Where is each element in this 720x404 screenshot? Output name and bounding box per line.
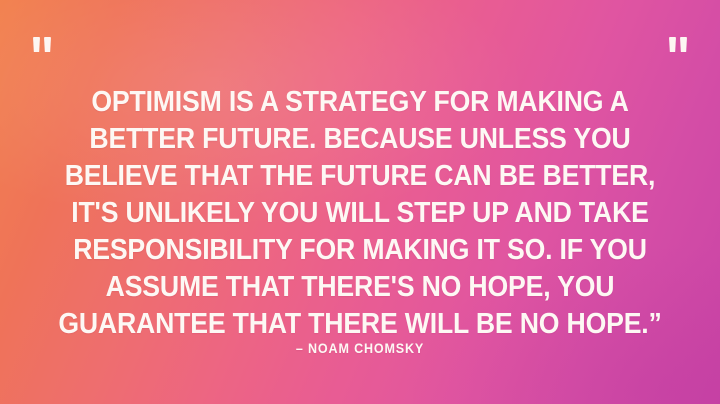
quote-line: RESPONSIBILITY FOR MAKING IT SO. IF YOU [48,232,673,269]
quote-text: OPTIMISM IS A STRATEGY FOR MAKING A BETT… [0,84,720,343]
quote-close-icon [669,37,687,52]
quote-line: BELIEVE THAT THE FUTURE CAN BE BETTER, [48,158,673,195]
quote-close-bar-right [680,37,687,52]
quote-open-bar-left [33,37,40,52]
quote-line: IT'S UNLIKELY YOU WILL STEP UP AND TAKE [48,195,673,232]
quote-open-bar-right [44,37,51,52]
quote-open-icon [33,37,51,52]
quote-line: BETTER FUTURE. BECAUSE UNLESS YOU [48,121,673,158]
quote-attribution: – NOAM CHOMSKY [25,341,695,356]
quote-line: ASSUME THAT THERE'S NO HOPE, YOU [48,269,673,306]
quote-line: GUARANTEE THAT THERE WILL BE NO HOPE.” [48,306,673,343]
quote-line: OPTIMISM IS A STRATEGY FOR MAKING A [48,84,673,121]
quote-close-bar-left [669,37,676,52]
quote-card: OPTIMISM IS A STRATEGY FOR MAKING A BETT… [0,0,720,404]
